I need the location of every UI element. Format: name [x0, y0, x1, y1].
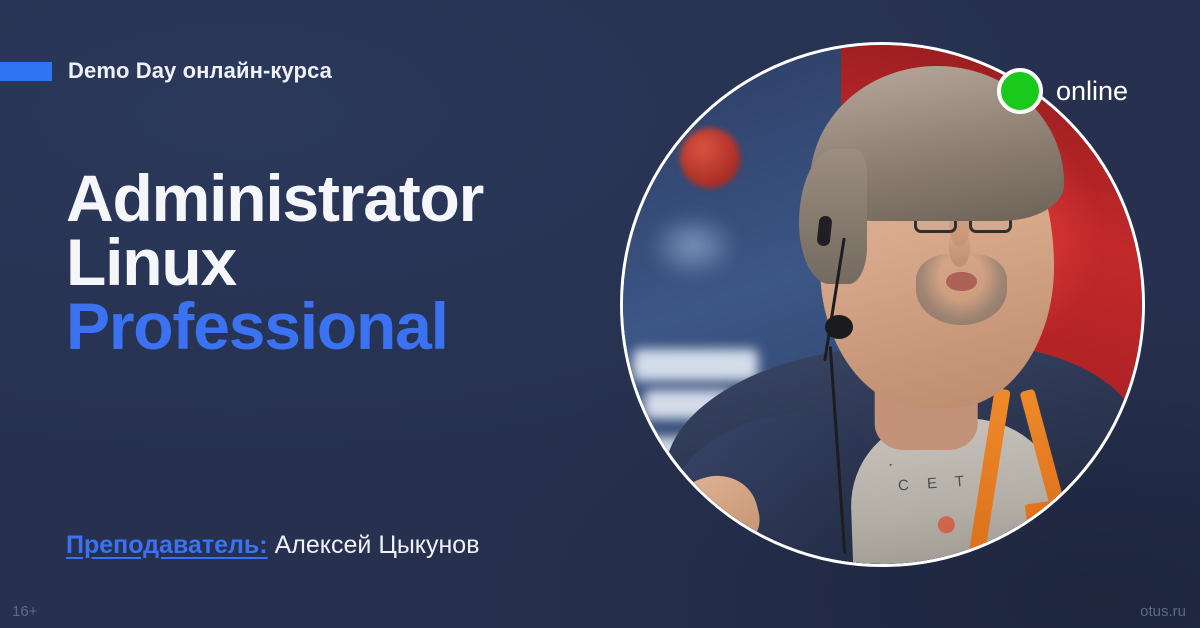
- instructor-name: Алексей Цыкунов: [275, 531, 480, 559]
- title-line-1: Administrator: [66, 166, 626, 230]
- hair-side: [799, 149, 866, 284]
- eyebrow: Demo Day онлайн-курса: [0, 58, 332, 84]
- site-url-label: otus.ru: [1140, 603, 1186, 620]
- page-title: Administrator Linux Professional: [66, 166, 626, 358]
- instructor-line: Преподаватель:Алексей Цыкунов: [66, 531, 480, 560]
- promo-banner: Demo Day онлайн-курса Administrator Linu…: [0, 0, 1200, 628]
- conference-badge: [1024, 500, 1065, 556]
- person-figure: C E T X: [623, 45, 1142, 564]
- photo-image: C E T X: [623, 45, 1142, 564]
- age-rating-label: 16+: [12, 603, 37, 620]
- title-line-3: Professional: [66, 294, 626, 358]
- title-line-2: Linux: [66, 230, 626, 294]
- instructor-label: Преподаватель:: [66, 531, 268, 559]
- status-badge-label: online: [1056, 76, 1128, 107]
- instructor-photo: C E T X: [620, 42, 1145, 567]
- accent-bar: [0, 62, 52, 81]
- status-badge: online: [997, 68, 1128, 114]
- eyebrow-label: Demo Day онлайн-курса: [68, 58, 332, 84]
- stubble-beard: [916, 254, 1007, 325]
- online-status-dot-icon: [997, 68, 1043, 114]
